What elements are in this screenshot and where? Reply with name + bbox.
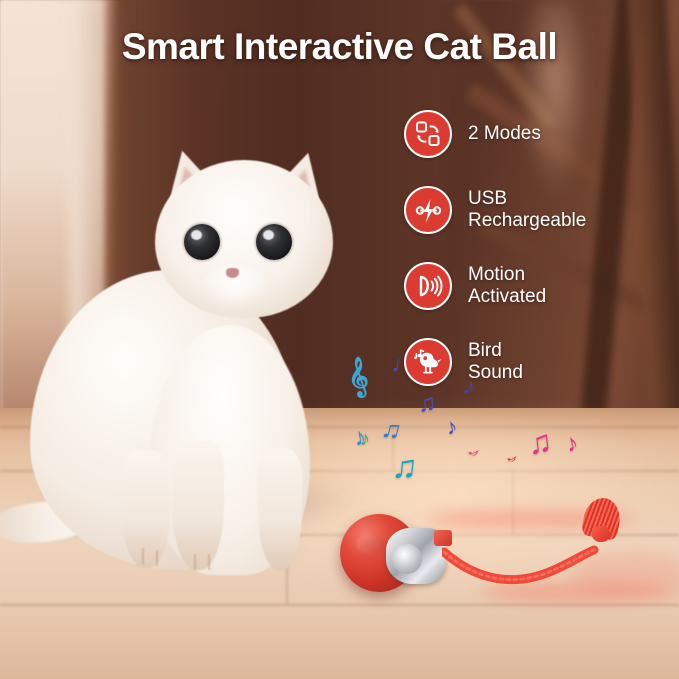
music-note: ♪ [443,413,459,441]
music-note: ♫ [526,423,554,462]
cat-nose [226,268,239,278]
cat-photo [0,150,380,570]
feature-item-bird-sound[interactable]: Bird Sound [404,324,664,400]
cat-back-leg [258,448,302,570]
two-modes-swap-icon-badge [404,110,452,158]
music-note: ♫ [379,412,405,447]
feature-label-usb-rechargeable: USB Rechargeable [468,188,586,232]
feature-item-2-modes[interactable]: 2 Modes [404,96,664,172]
music-note: ♪ [502,451,522,467]
feature-label-motion-activated: Motion Activated [468,264,546,308]
cat-front-leg-left [122,450,170,568]
cat-eye-right [256,224,292,260]
cat-ball-product [330,500,679,640]
usb-bolt-icon [413,195,444,226]
music-note: ♪ [463,444,486,461]
page-title: Smart Interactive Cat Ball [0,26,679,68]
bird-music-icon-badge [404,338,452,386]
feature-label-bird-sound: Bird Sound [468,340,523,384]
music-note: ♪ [359,428,371,452]
rope-tassel [578,502,624,564]
usb-bolt-icon-badge [404,186,452,234]
motion-sensor-waves-icon [413,271,443,301]
music-note: ♫ [390,447,419,488]
cat-eye-left [184,224,220,260]
motion-sensor-waves-icon-badge [404,262,452,310]
cat-front-leg-right [172,440,224,570]
two-modes-swap-icon [413,119,443,149]
product-poster: 𝄞♩♫♫♪♪♪♫♪♪♫♪♪ Smart Interactive Cat Ball [0,0,679,679]
feature-item-motion-activated[interactable]: Motion Activated [404,248,664,324]
music-note: ♪ [563,429,581,459]
feature-label-2-modes: 2 Modes [468,123,541,145]
bird-music-icon [413,347,444,378]
ball-logo-emboss [356,534,386,554]
feature-list: 2 Modes USB Rechargeable [404,96,664,400]
ball-metal-inner [392,544,422,574]
feature-item-usb-rechargeable[interactable]: USB Rechargeable [404,172,664,248]
music-note: 𝄞 [345,357,370,398]
